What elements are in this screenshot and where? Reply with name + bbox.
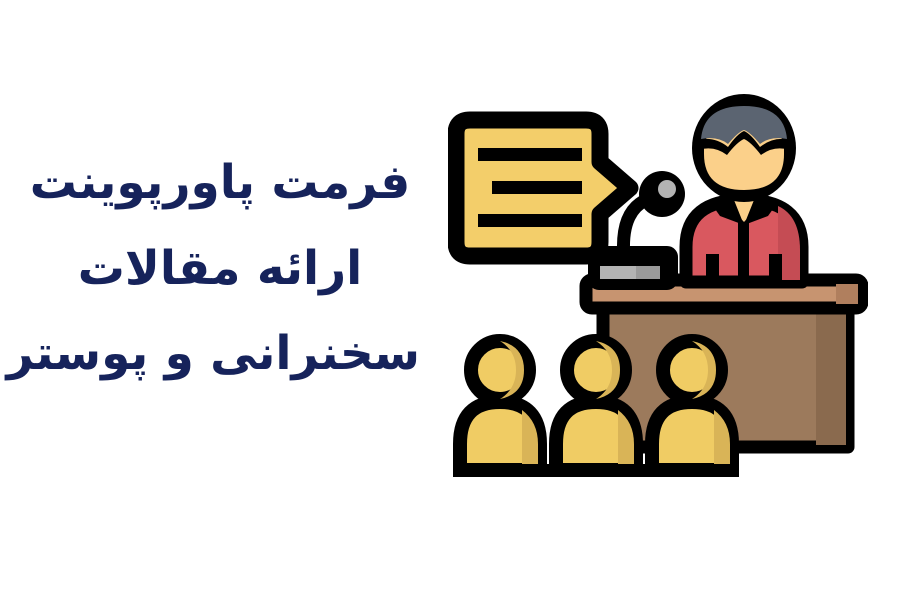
- headline-line-3: سخنرانی و پوستر: [20, 311, 420, 397]
- headline-line-1: فرمت پاورپوینت: [20, 140, 420, 226]
- audience-group: [453, 341, 739, 477]
- banner-canvas: فرمت پاورپوینت ارائه مقالات سخنرانی و پو…: [0, 0, 900, 600]
- speech-line-3: [478, 214, 582, 227]
- speech-bubble-tag: [456, 120, 630, 256]
- speaker-person: [686, 94, 802, 284]
- conference-speaker-illustration: [448, 92, 868, 482]
- audience-person-1: [460, 341, 540, 470]
- audience-person-2: [556, 341, 636, 470]
- headline-text-block: فرمت پاورپوینت ارائه مقالات سخنرانی و پو…: [20, 140, 420, 397]
- headline-line-2: ارائه مقالات: [20, 226, 420, 312]
- speech-line-1: [478, 148, 582, 161]
- audience-person-3: [652, 341, 732, 470]
- speech-line-2: [492, 181, 582, 194]
- laptop-on-podium: [594, 252, 672, 284]
